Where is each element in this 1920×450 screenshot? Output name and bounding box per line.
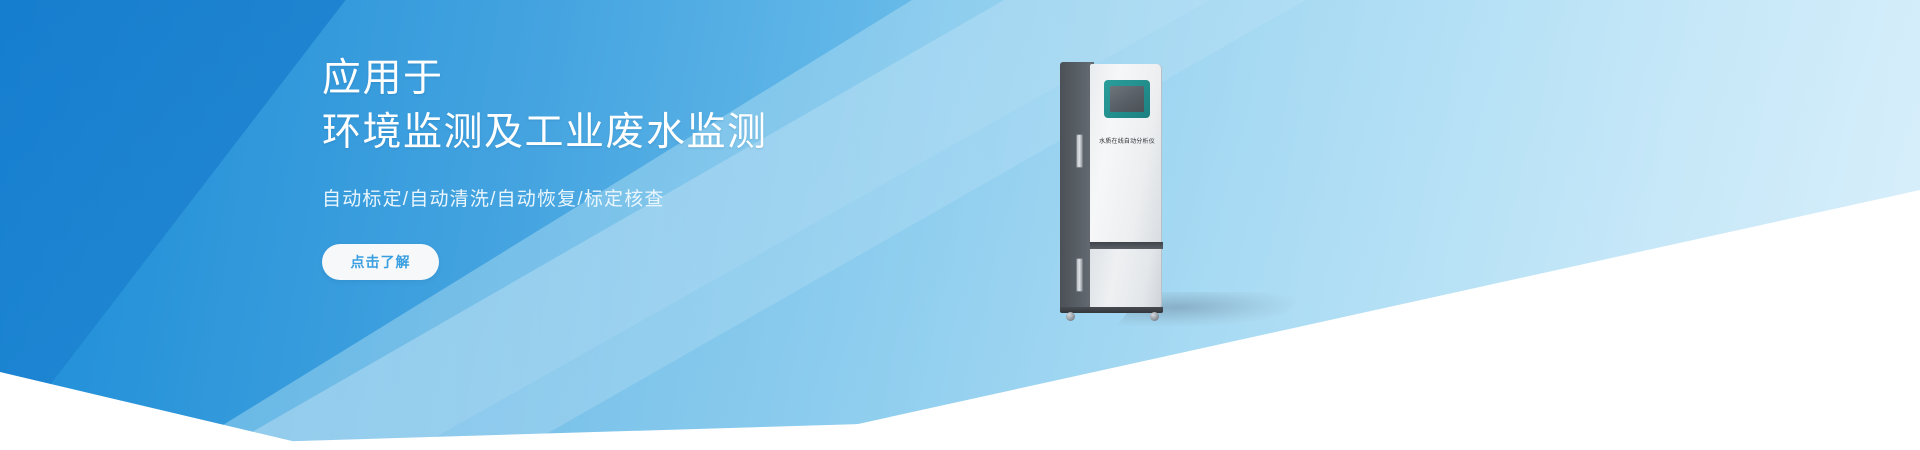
headline-line-1: 应用于 — [322, 52, 1082, 106]
device-screen-bezel — [1104, 80, 1150, 118]
device-door-divider — [1090, 242, 1163, 249]
device-brand-label: 水质在线自动分析仪 — [1094, 138, 1160, 146]
hero-subheading: 自动标定/自动清洗/自动恢复/标定核查 — [322, 186, 1082, 214]
hero-copy-block: 应用于 环境监测及工业废水监测 自动标定/自动清洗/自动恢复/标定核查 点击了解 — [322, 52, 1082, 280]
device-caster-right — [1150, 312, 1159, 321]
device-base-plinth — [1060, 307, 1163, 313]
device-display-screen — [1110, 86, 1144, 112]
device-caster-left — [1066, 312, 1075, 321]
learn-more-button[interactable]: 点击了解 — [322, 244, 439, 280]
headline-line-2: 环境监测及工业废水监测 — [322, 106, 1082, 160]
device-lower-door — [1090, 249, 1162, 309]
hero-banner: 应用于 环境监测及工业废水监测 自动标定/自动清洗/自动恢复/标定核查 点击了解… — [0, 0, 1920, 450]
water-quality-analyzer-image: 水质在线自动分析仪 — [1060, 62, 1210, 320]
cta-container: 点击了解 — [322, 244, 1082, 280]
